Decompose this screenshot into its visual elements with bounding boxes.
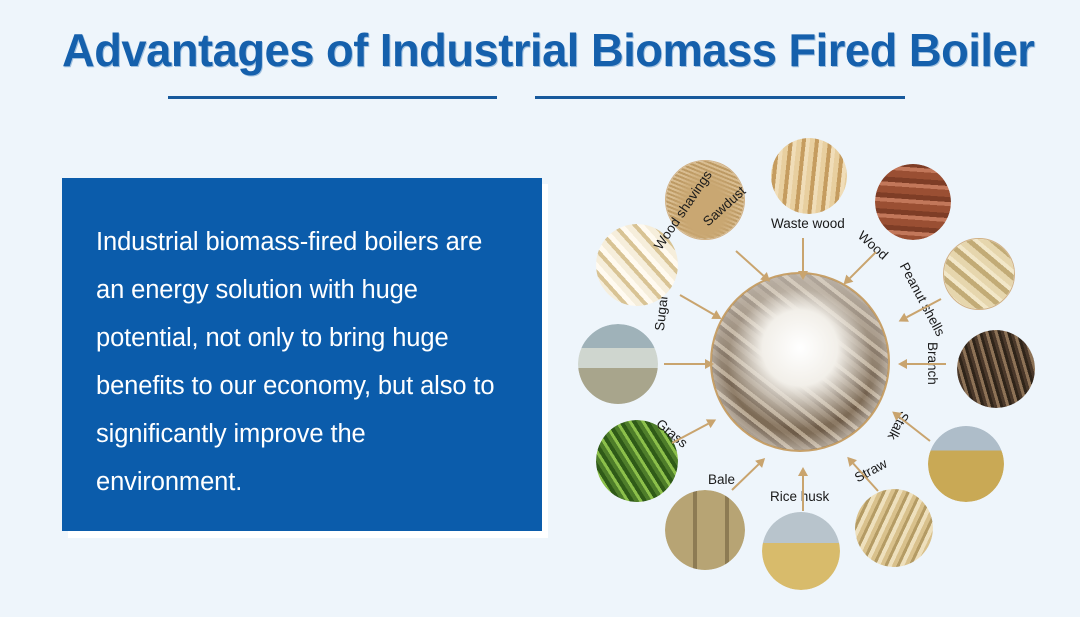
label-waste-wood: Waste wood	[771, 216, 845, 232]
title-underline-left	[168, 96, 497, 99]
wood-image	[875, 164, 951, 240]
waste-wood-image	[771, 138, 847, 214]
peanut-shells-image	[944, 239, 1014, 309]
rice-husk-image	[762, 512, 840, 590]
arrow-branch	[898, 359, 946, 369]
arrow-sawdust	[733, 247, 774, 285]
biomass-pellets-hub	[710, 272, 890, 452]
node-bale	[665, 490, 745, 570]
sugar-cane-image	[578, 324, 658, 404]
description-panel: Industrial biomass-fired boilers are an …	[62, 178, 542, 531]
node-stalk	[928, 426, 1004, 502]
node-waste-wood	[771, 138, 847, 214]
branch-image	[957, 330, 1035, 408]
title-underline	[168, 96, 905, 100]
slide-canvas: Advantages of Industrial Biomass Fired B…	[0, 0, 1080, 617]
hub-gloss	[712, 274, 888, 450]
node-peanut-shells	[943, 238, 1015, 310]
straw-image	[855, 489, 933, 567]
page-title: Advantages of Industrial Biomass Fired B…	[62, 24, 1017, 76]
arrow-wood-shavings	[678, 291, 725, 324]
node-branch	[957, 330, 1035, 408]
node-sugar-cane	[578, 324, 658, 404]
biomass-fuel-diagram: Sawdust Waste wood Wood Peanut shells Br…	[560, 120, 1080, 617]
arrow-waste-wood	[798, 238, 808, 280]
stalk-image	[928, 426, 1004, 502]
arrow-rice-husk	[798, 467, 808, 511]
arrow-wood	[840, 248, 880, 288]
node-rice-husk	[762, 512, 840, 590]
arrow-sugar-cane	[664, 359, 714, 369]
node-wood	[875, 164, 951, 240]
bale-image	[665, 490, 745, 570]
node-straw	[855, 489, 933, 567]
description-text: Industrial biomass-fired boilers are an …	[96, 218, 508, 506]
title-underline-right	[535, 96, 905, 99]
